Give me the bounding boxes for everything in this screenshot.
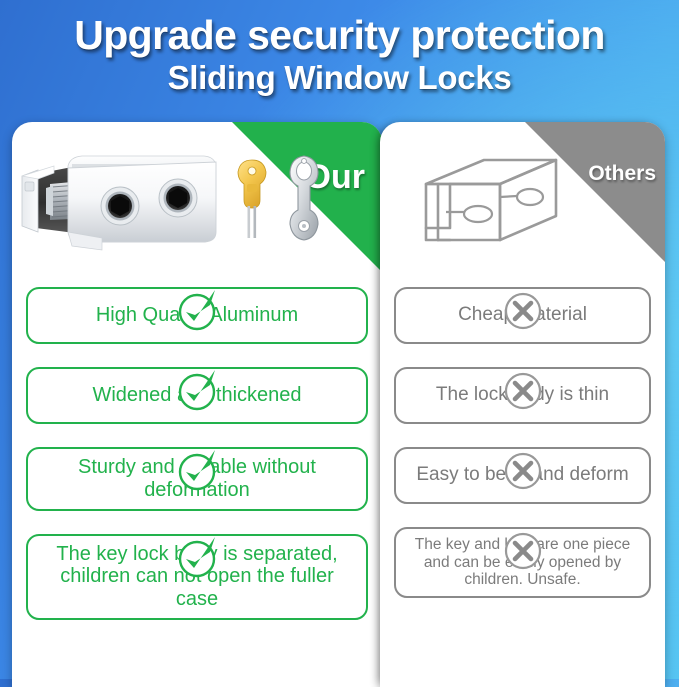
drawback-row: Cheap material [394,287,651,344]
feature-row: Sturdy and durable without deformation [26,447,368,511]
drawback-row: The key and lock are one piece and can b… [394,527,651,598]
others-product-card: Others [380,122,665,687]
gray-x-circle-icon [500,367,546,413]
drawback-row: The lock body is thin [394,367,651,424]
green-check-circle-icon [174,287,220,333]
gray-x-circle-icon [500,447,546,493]
title-line-secondary: Sliding Window Locks [0,59,679,97]
drawback-row: Easy to bend and deform [394,447,651,504]
green-check-circle-icon [174,534,220,580]
page-title: Upgrade security protection Sliding Wind… [0,14,679,97]
green-check-circle-icon [174,447,220,493]
our-feature-list: High Quality Aluminum Widened and thicke… [12,264,382,620]
feature-row: The key lock body is separated, children… [26,534,368,620]
feature-row: High Quality Aluminum [26,287,368,344]
title-line-primary: Upgrade security protection [0,14,679,57]
others-feature-list: Cheap material The lock body is thin [380,264,665,598]
gray-outline-lock-drawing [380,140,665,262]
gray-x-circle-icon [500,527,546,573]
comparison-table: Our [12,122,667,687]
feature-row: Widened and thickened [26,367,368,424]
aluminum-window-lock-photo [12,140,382,262]
gray-x-circle-icon [500,287,546,333]
green-check-circle-icon [174,367,220,413]
our-product-card: Our [12,122,382,687]
